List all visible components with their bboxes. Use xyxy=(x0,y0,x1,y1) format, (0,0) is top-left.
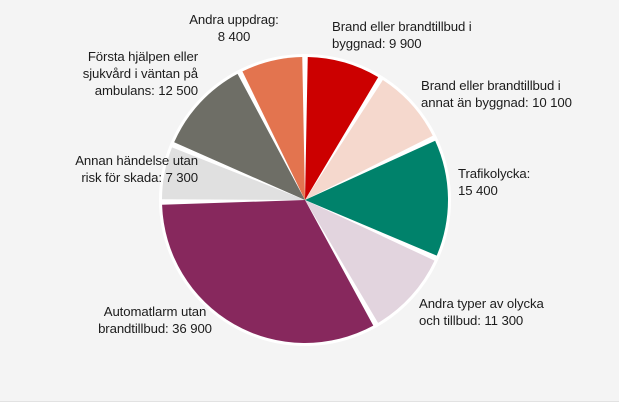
slice-label-annan-handelse: Annan händelse utan risk för skada: 7 30… xyxy=(2,152,198,186)
slice-label-forsta-hjalpen: Första hjälpen eller sjukvård i väntan p… xyxy=(14,48,198,99)
pie-chart-figure: Brand eller brandtillbud i byggnad: 9 90… xyxy=(0,0,619,402)
slice-label-trafikolycka: Trafikolycka: 15 400 xyxy=(458,165,608,199)
slice-label-andra-typer: Andra typer av olycka och tillbud: 11 30… xyxy=(419,295,609,329)
slice-label-andra-uppdrag: Andra uppdrag: 8 400 xyxy=(148,11,320,45)
slice-label-automatlarm: Automatlarm utan brandtillbud: 36 900 xyxy=(60,303,250,337)
slice-label-brand-byggnad: Brand eller brandtillbud i byggnad: 9 90… xyxy=(332,18,557,52)
slice-label-brand-annat: Brand eller brandtillbud i annat än bygg… xyxy=(421,77,619,111)
